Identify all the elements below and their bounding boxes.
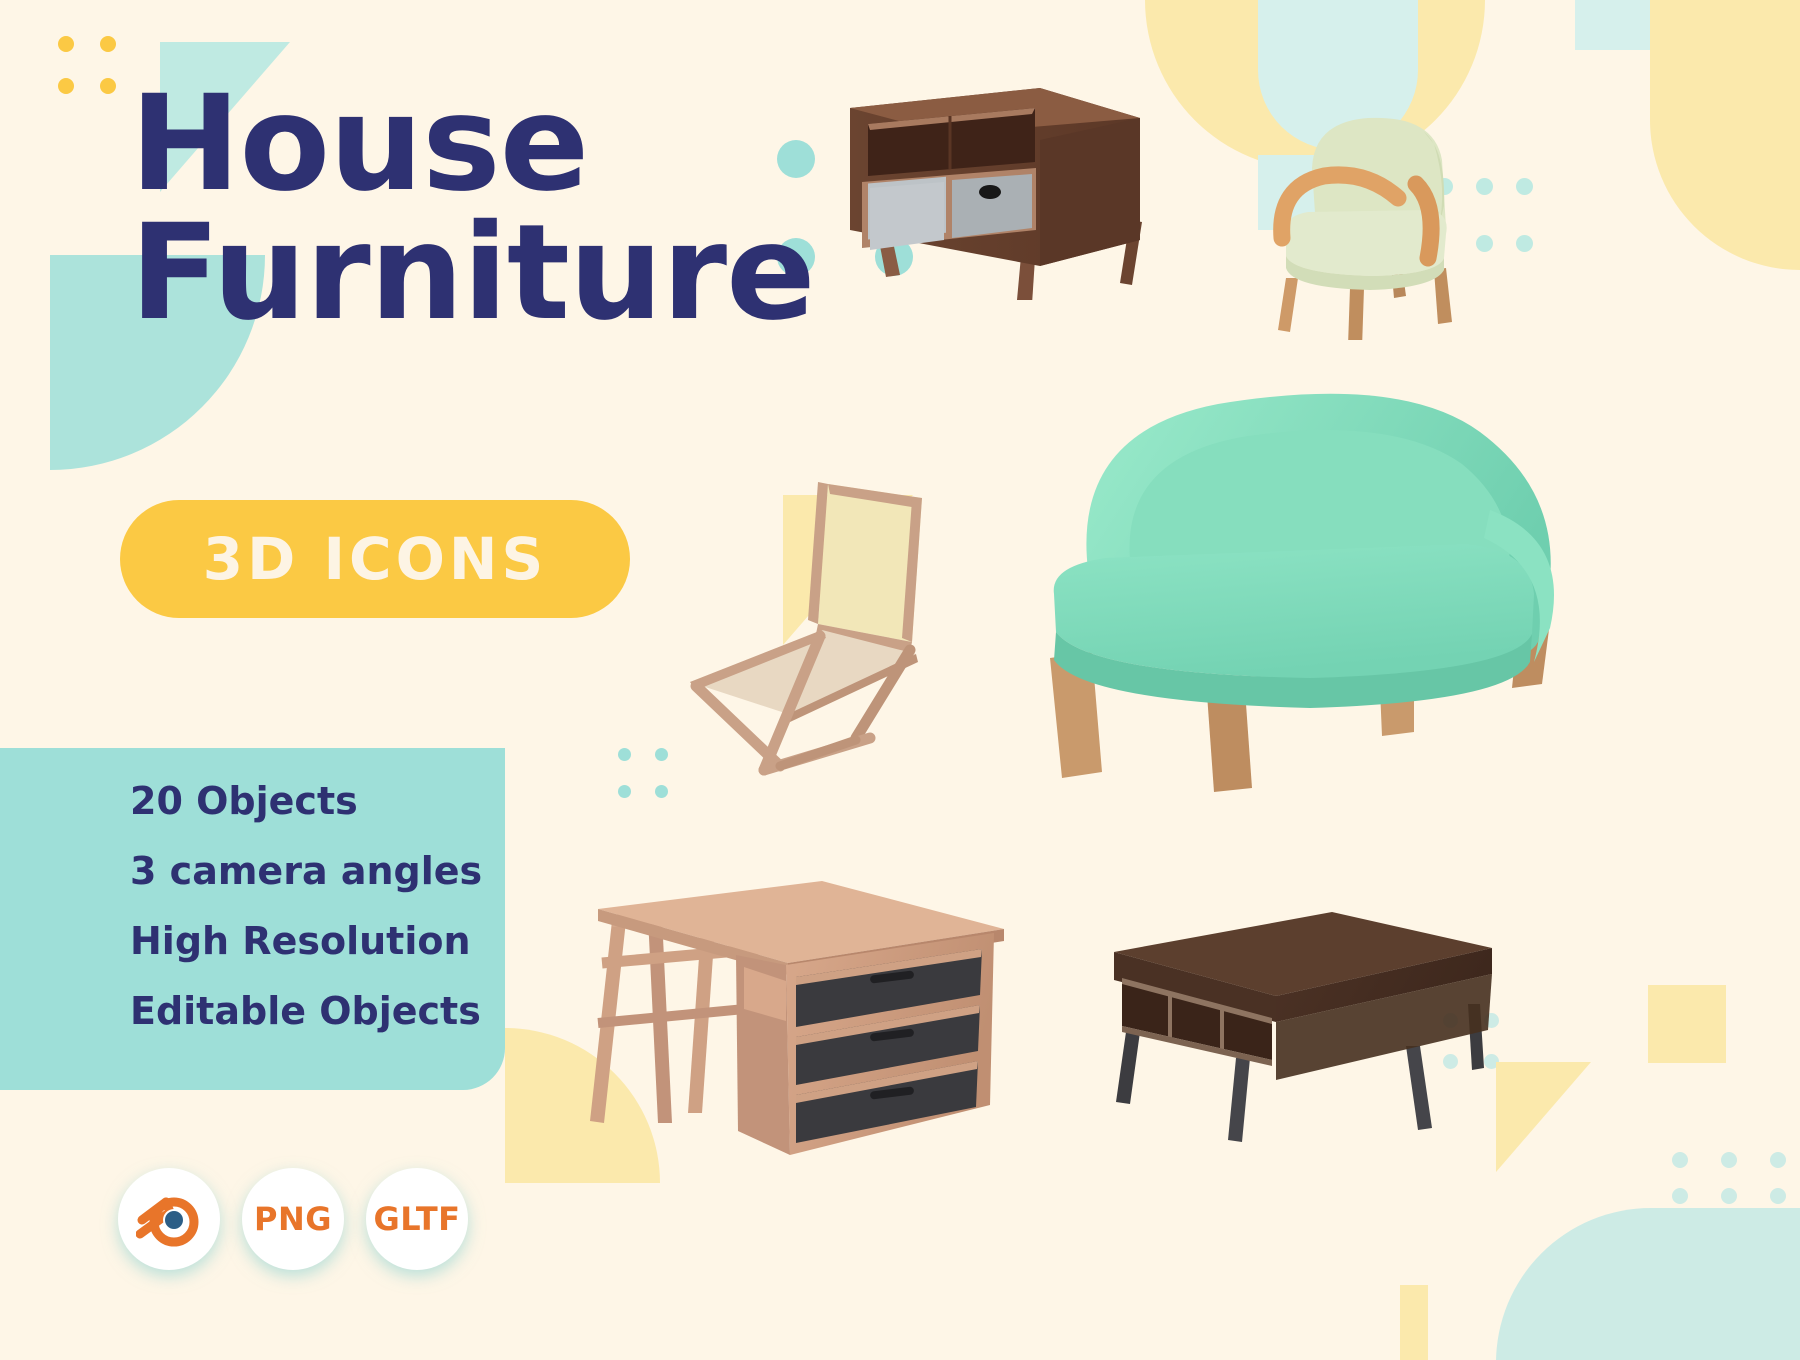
blender-icon [136,1190,202,1248]
cream-armchair-wood-arms [1238,110,1498,340]
blender-logo-badge[interactable] [118,1168,220,1270]
tv-console-dark-wood [840,70,1170,300]
dark-coffee-table [1100,900,1500,1160]
gltf-label: GLTF [373,1200,460,1238]
badge-3d-icons[interactable]: 3D ICONS [120,500,630,618]
list-item: High Resolution [130,922,505,962]
page-title: House Furniture [130,80,815,339]
pale-teal-square-top-right [1575,0,1650,50]
pale-yellow-triangle-bottom-mid [1496,1062,1591,1172]
list-item: 20 Objects [130,782,505,822]
poster-canvas: House Furniture 3D ICONS 20 Objects 3 ca… [0,0,1800,1360]
title-line-2: Furniture [130,209,815,338]
folding-deck-chair [660,470,960,790]
teal-dot-grid-bottom-right-large [1672,1152,1800,1204]
mint-tub-armchair [1010,380,1610,830]
pale-yellow-block-under-table [1400,1285,1428,1360]
png-label: PNG [254,1200,332,1238]
list-item: Editable Objects [130,992,505,1032]
format-badges: PNG GLTF [118,1168,468,1270]
pale-yellow-square-bottom-right [1648,985,1726,1063]
list-item: 3 camera angles [130,852,505,892]
pale-yellow-block-top-right [1650,0,1800,270]
png-format-badge[interactable]: PNG [242,1168,344,1270]
teal-quarter-circle-bottom-right [1496,1208,1800,1360]
features-panel: 20 Objects 3 camera angles High Resoluti… [0,748,505,1090]
features-list: 20 Objects 3 camera angles High Resoluti… [0,782,505,1032]
yellow-dot-grid-top-left [58,36,116,94]
badge-label: 3D ICONS [203,525,547,593]
trestle-desk-drawers [590,855,1010,1175]
gltf-format-badge[interactable]: GLTF [366,1168,468,1270]
